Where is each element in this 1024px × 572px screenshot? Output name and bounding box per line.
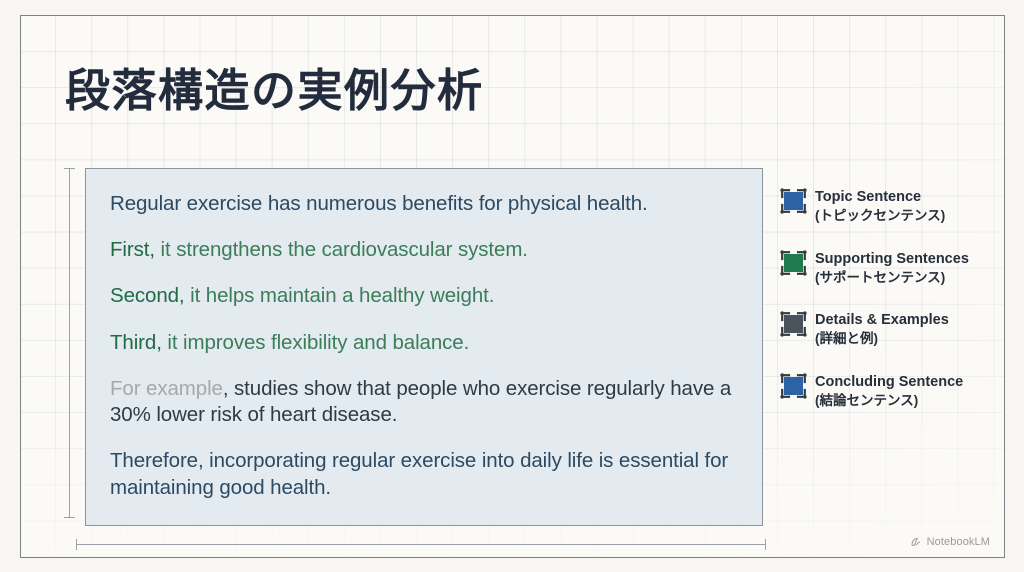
legend-label-ja: (トピックセンテンス) <box>815 207 945 225</box>
legend-swatch-icon <box>783 314 804 334</box>
text-segment-supporting: it improves flexibility and balance. <box>162 331 469 354</box>
paragraph-line-supporting-first: First, it strengthens the cardiovascular… <box>110 237 738 263</box>
slide-page: 段落構造の実例分析 Regular exercise has numerous … <box>0 0 1024 572</box>
paragraph-card: Regular exercise has numerous benefits f… <box>85 168 763 526</box>
legend: Topic Sentence(トピックセンテンス)Supporting Sent… <box>783 188 998 410</box>
horizontal-dimension-guide <box>76 544 766 545</box>
legend-swatch-icon <box>783 191 804 211</box>
text-segment-supporting: it helps maintain a healthy weight. <box>185 284 495 307</box>
notebooklm-watermark: NotebookLM <box>910 536 990 548</box>
paragraph-line-topic-sentence: Regular exercise has numerous benefits f… <box>110 191 738 217</box>
text-segment-marker-detail: For example <box>110 377 223 400</box>
legend-label-en: Concluding Sentence <box>815 373 963 391</box>
paragraph-lines: Regular exercise has numerous benefits f… <box>110 191 738 501</box>
text-segment-marker: First, <box>110 238 155 261</box>
legend-label-en: Supporting Sentences <box>815 250 969 268</box>
legend-item-concluding-sentence: Concluding Sentence(結論センテンス) <box>783 373 998 410</box>
legend-text: Concluding Sentence(結論センテンス) <box>815 373 963 410</box>
legend-label-en: Details & Examples <box>815 311 949 329</box>
paragraph-card-content: Regular exercise has numerous benefits f… <box>86 169 762 519</box>
legend-swatch-icon <box>783 253 804 273</box>
legend-label-ja: (結論センテンス) <box>815 392 963 410</box>
legend-label-ja: (サポートセンテンス) <box>815 269 969 287</box>
legend-item-details-examples: Details & Examples(詳細と例) <box>783 311 998 348</box>
paragraph-line-concluding-sentence: Therefore, incorporating regular exercis… <box>110 448 738 500</box>
legend-label-en: Topic Sentence <box>815 188 945 206</box>
notebooklm-logo-icon <box>910 536 922 548</box>
page-title: 段落構造の実例分析 <box>65 66 484 116</box>
paragraph-line-supporting-third: Third, it improves flexibility and balan… <box>110 330 738 356</box>
text-segment-topic: Regular exercise has numerous benefits f… <box>110 192 648 215</box>
legend-text: Supporting Sentences(サポートセンテンス) <box>815 250 969 287</box>
slide-frame: 段落構造の実例分析 Regular exercise has numerous … <box>20 15 1005 558</box>
text-segment-supporting: it strengthens the cardiovascular system… <box>155 238 528 261</box>
legend-text: Details & Examples(詳細と例) <box>815 311 949 348</box>
legend-label-ja: (詳細と例) <box>815 330 949 348</box>
paragraph-line-supporting-second: Second, it helps maintain a healthy weig… <box>110 283 738 309</box>
paragraph-line-details-example: For example, studies show that people wh… <box>110 376 738 428</box>
legend-item-topic-sentence: Topic Sentence(トピックセンテンス) <box>783 188 998 225</box>
legend-text: Topic Sentence(トピックセンテンス) <box>815 188 945 225</box>
legend-item-supporting-sentences: Supporting Sentences(サポートセンテンス) <box>783 250 998 287</box>
notebooklm-watermark-label: NotebookLM <box>927 536 990 548</box>
vertical-dimension-guide <box>69 168 70 518</box>
text-segment-marker: Third, <box>110 331 162 354</box>
text-segment-marker: Second, <box>110 284 185 307</box>
legend-swatch-icon <box>783 376 804 396</box>
text-segment-concluding: Therefore, incorporating regular exercis… <box>110 449 728 498</box>
